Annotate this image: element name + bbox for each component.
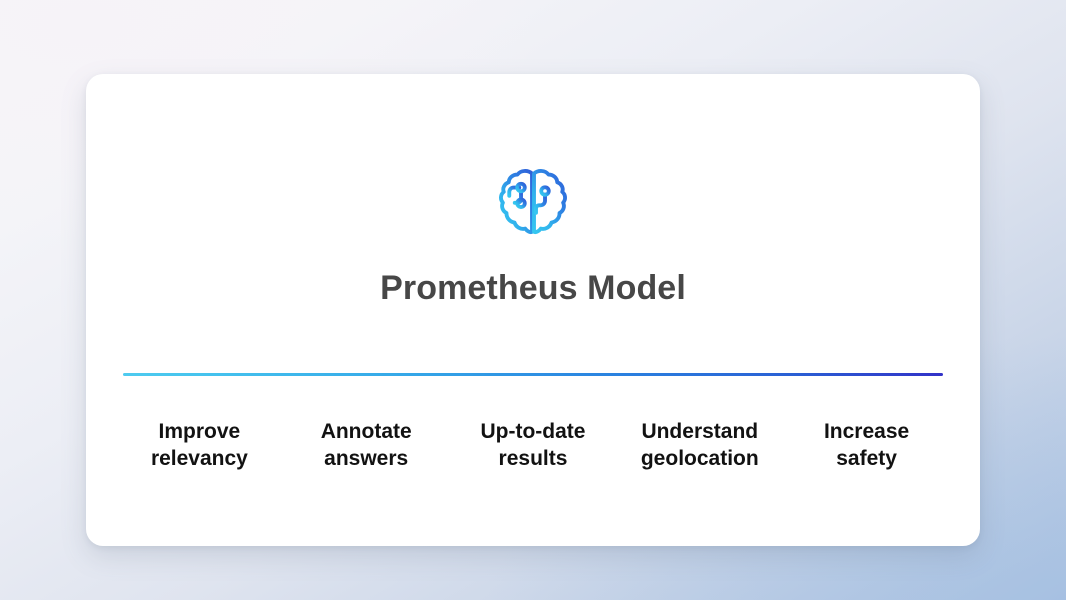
logo-container <box>86 162 980 242</box>
feature-label-line2: results <box>454 445 613 472</box>
feature-label-line1: Up-to-date <box>454 418 613 445</box>
feature-label-line2: safety <box>787 445 946 472</box>
gradient-divider <box>123 373 943 376</box>
feature-item-annotate-answers: Annotate answers <box>283 418 450 472</box>
feature-label-line1: Increase <box>787 418 946 445</box>
feature-label-line2: geolocation <box>620 445 779 472</box>
brain-circuit-icon <box>493 162 573 242</box>
feature-item-improve-relevancy: Improve relevancy <box>116 418 283 472</box>
feature-label-line2: answers <box>287 445 446 472</box>
feature-item-increase-safety: Increase safety <box>783 418 950 472</box>
prometheus-model-card: Prometheus Model Improve relevancy Annot… <box>86 74 980 546</box>
slide-canvas: Prometheus Model Improve relevancy Annot… <box>0 0 1066 600</box>
feature-label-line2: relevancy <box>120 445 279 472</box>
feature-item-understand-geolocation: Understand geolocation <box>616 418 783 472</box>
feature-label-line1: Annotate <box>287 418 446 445</box>
feature-item-up-to-date-results: Up-to-date results <box>450 418 617 472</box>
page-title: Prometheus Model <box>86 267 980 309</box>
feature-list: Improve relevancy Annotate answers Up-to… <box>116 418 950 472</box>
feature-label-line1: Understand <box>620 418 779 445</box>
feature-label-line1: Improve <box>120 418 279 445</box>
